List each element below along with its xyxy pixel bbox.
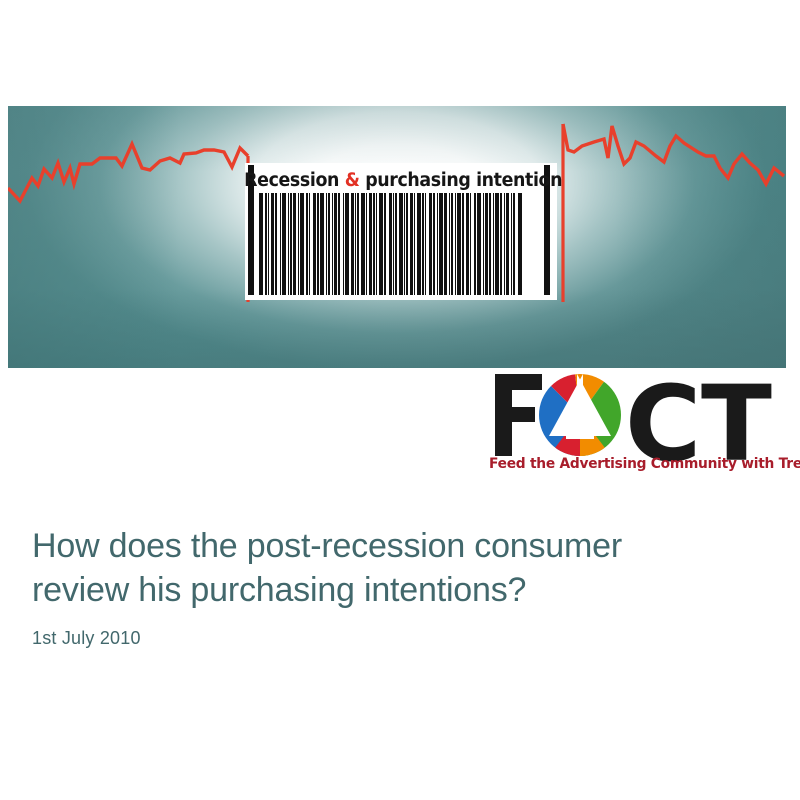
banner-image: Recession & purchasing intention (8, 106, 786, 368)
barcode-bar (373, 193, 375, 295)
barcode-bar (504, 193, 505, 295)
barcode-title-ampersand: & (345, 170, 360, 191)
letter-f-middle-arm (495, 407, 535, 422)
barcode-bar (511, 193, 512, 295)
fact-logo-letter-a-cutout (539, 374, 621, 456)
barcode-bar (389, 193, 392, 295)
barcode-bar (399, 193, 403, 295)
chart-line-left-segment (8, 144, 248, 201)
barcode-bar (422, 193, 424, 295)
barcode-graphic: Recession & purchasing intention (245, 163, 557, 300)
barcode-bar (500, 193, 502, 295)
fact-logo-letter-f (495, 374, 542, 456)
barcode-bar (433, 193, 435, 295)
barcode-bar (300, 193, 304, 295)
barcode-bar (417, 193, 421, 295)
barcode-bar (313, 193, 316, 295)
presentation-date: 1st July 2010 (32, 628, 141, 649)
barcode-bar (288, 193, 289, 295)
barcode-bar (293, 193, 296, 295)
barcode-bar (462, 193, 464, 295)
barcode-bar (379, 193, 383, 295)
barcode-bar (345, 193, 349, 295)
barcode-bar (513, 193, 515, 295)
letter-f-top-arm (495, 374, 542, 390)
barcode-bar (437, 193, 438, 295)
barcode-bar (309, 193, 310, 295)
barcode-bar (376, 193, 377, 295)
fact-logo: C T Feed the Advertising Community with … (489, 368, 789, 483)
barcode-title-label: Recession & purchasing intention (259, 165, 547, 195)
barcode-bar (290, 193, 292, 295)
barcode-bar (451, 193, 453, 295)
page-title: How does the post-recession consumer rev… (32, 524, 762, 612)
barcode-bar (384, 193, 386, 295)
barcode-bar (268, 193, 269, 295)
barcode-bar (338, 193, 340, 295)
barcode-bar (429, 193, 432, 295)
barcode-bar (495, 193, 499, 295)
barcode-bar (343, 193, 344, 295)
barcode-bar (280, 193, 281, 295)
barcode-bar (369, 193, 372, 295)
barcode-bar (444, 193, 447, 295)
letter-a-left-counter (539, 374, 559, 456)
barcode-bar (466, 193, 469, 295)
barcode-bar (506, 193, 509, 295)
barcode-bar (357, 193, 359, 295)
barcode-bar (406, 193, 408, 295)
barcode-bar (282, 193, 286, 295)
letter-a-notch-right (577, 374, 611, 436)
barcode-title-suffix: purchasing intention (359, 170, 562, 191)
barcode-bar (410, 193, 413, 295)
barcode-bars (259, 193, 541, 295)
barcode-bar (489, 193, 491, 295)
barcode-bar (320, 193, 324, 295)
barcode-bar (332, 193, 333, 295)
barcode-bar (439, 193, 443, 295)
barcode-bar (449, 193, 450, 295)
barcode-bar (455, 193, 456, 295)
barcode-bar (271, 193, 274, 295)
barcode-bar (361, 193, 365, 295)
barcode-bar (483, 193, 484, 295)
fact-logo-tagline: Feed the Advertising Community with Tren… (489, 456, 780, 472)
barcode-bar (404, 193, 405, 295)
barcode-bar (393, 193, 394, 295)
barcode-bar (334, 193, 337, 295)
barcode-bar (317, 193, 319, 295)
barcode-bar (259, 193, 263, 295)
page-title-line-1: How does the post-recession consumer (32, 527, 622, 565)
barcode-bar (425, 193, 426, 295)
barcode-bar (470, 193, 471, 295)
barcode-bar (265, 193, 267, 295)
barcode-bar (298, 193, 299, 295)
barcode-bar (518, 193, 522, 295)
barcode-bar (474, 193, 476, 295)
barcode-bar (355, 193, 356, 295)
barcode-bar (485, 193, 488, 295)
barcode-bar (395, 193, 397, 295)
barcode-bar (275, 193, 277, 295)
barcode-title-prefix: Recession (244, 170, 345, 191)
barcode-bar (328, 193, 330, 295)
barcode-bar (457, 193, 461, 295)
barcode-bar (351, 193, 354, 295)
letter-a-crossbar-gap (566, 430, 594, 439)
barcode-bar (477, 193, 481, 295)
barcode-bar (414, 193, 415, 295)
barcode-bar (306, 193, 308, 295)
page-title-line-2: review his purchasing intentions? (32, 568, 762, 612)
barcode-bar (326, 193, 327, 295)
chart-line-right-segment (563, 124, 784, 184)
barcode-bar (493, 193, 494, 295)
barcode-bar (366, 193, 367, 295)
